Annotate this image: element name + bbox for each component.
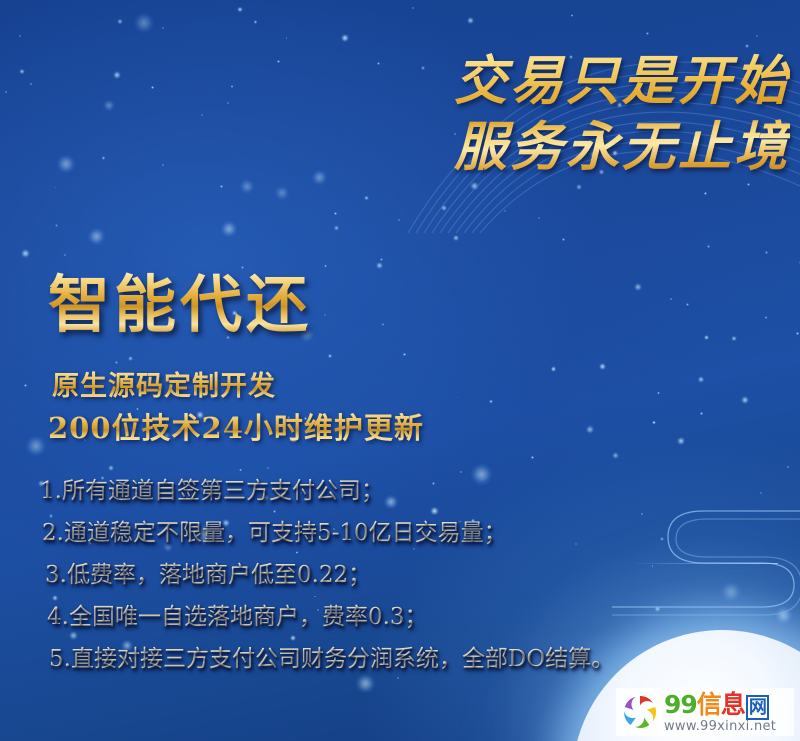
subtitle-line-2: 200位技术24小时维护更新 [48,409,472,447]
headline-line-2: 服务永无止境 [394,114,790,180]
list-item: 3.低费率，落地商户低至0.22； [45,554,760,596]
list-item: 5.直接对接三方支付公司财务分润系统，全部DO结算。 [49,638,760,680]
headline-line-1: 交易只是开始 [394,48,790,114]
headline: 交易只是开始 服务永无止境 [394,48,790,180]
watermark-wang: 网 [746,695,769,720]
watermark-text: 99信息网 www.99xinxi.net [664,692,776,733]
watermark-url: www.99xinxi.net [664,720,776,733]
watermark-99: 99 [664,690,697,719]
pinwheel-logo-icon [620,692,660,732]
feature-list: 1.所有通道自签第三方支付公司； 2.通道稳定不限量，可支持5-10亿日交易量；… [40,470,760,680]
promo-poster: 交易只是开始 服务永无止境 智能代还 原生源码定制开发 200位技术24小时维护… [0,0,800,741]
watermark: 99信息网 www.99xinxi.net [616,688,794,736]
watermark-xin: 信 [697,690,721,719]
watermark-brand: 99信息网 [664,692,776,717]
page-title: 智能代还 [48,268,312,342]
list-item: 1.所有通道自签第三方支付公司； [40,470,760,512]
subtitle-line-1: 原生源码定制开发 [52,368,472,406]
watermark-xi: 息 [721,690,745,719]
list-item: 2.通道稳定不限量，可支持5-10亿日交易量； [42,512,760,554]
list-item: 4.全国唯一自选落地商户，费率0.3； [47,596,760,638]
subtitle-block: 原生源码定制开发 200位技术24小时维护更新 [52,368,472,447]
